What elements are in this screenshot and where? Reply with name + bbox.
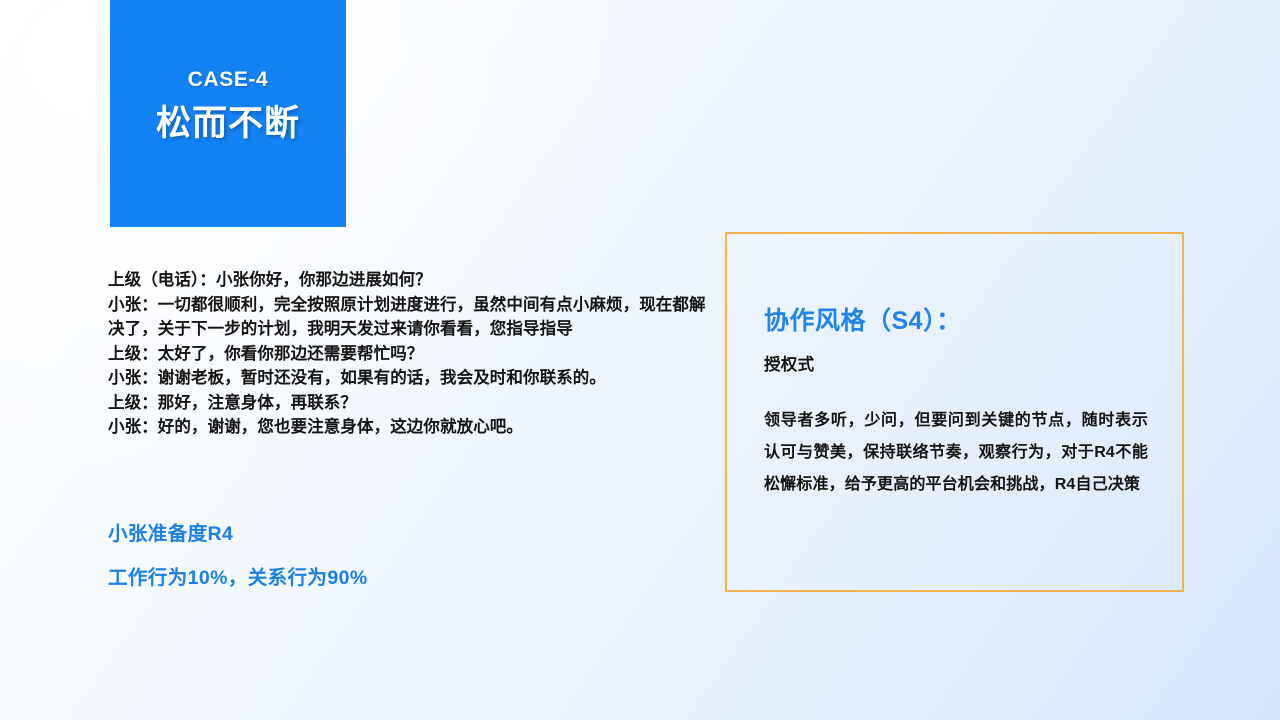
readiness-level: 小张准备度R4 xyxy=(108,512,628,556)
readiness-behavior-split: 工作行为10%，关系行为90% xyxy=(108,556,628,600)
dialogue-line: 上级（电话）：小张你好，你那边进展如何？ xyxy=(108,268,708,293)
dialogue-line: 小张：谢谢老板，暂时还没有，如果有的话，我会及时和你联系的。 xyxy=(108,366,708,391)
dialogue-line: 上级：太好了，你看你那边还需要帮忙吗？ xyxy=(108,342,708,367)
slide-canvas: CASE-4 松而不断 上级（电话）：小张你好，你那边进展如何？ 小张：一切都很… xyxy=(0,0,1280,720)
dialogue-block: 上级（电话）：小张你好，你那边进展如何？ 小张：一切都很顺利，完全按照原计划进度… xyxy=(108,268,708,440)
case-title: 松而不断 xyxy=(156,103,300,145)
case-card: CASE-4 松而不断 xyxy=(110,0,346,227)
panel-subtitle: 授权式 xyxy=(764,356,1148,376)
dialogue-line: 小张：一切都很顺利，完全按照原计划进度进行，虽然中间有点小麻烦，现在都解决了，关… xyxy=(108,293,708,342)
case-label: CASE-4 xyxy=(188,68,269,91)
panel-title: 协作风格（S4）： xyxy=(764,306,1148,336)
collaboration-style-panel: 协作风格（S4）： 授权式 领导者多听，少问，但要问到关键的节点，随时表示认可与… xyxy=(725,232,1184,592)
dialogue-line: 上级：那好，注意身体，再联系？ xyxy=(108,391,708,416)
panel-body-text: 领导者多听，少问，但要问到关键的节点，随时表示认可与赞美，保持联络节奏，观察行为… xyxy=(764,405,1148,501)
readiness-block: 小张准备度R4 工作行为10%，关系行为90% xyxy=(108,512,628,600)
dialogue-line: 小张：好的，谢谢，您也要注意身体，这边你就放心吧。 xyxy=(108,415,708,440)
